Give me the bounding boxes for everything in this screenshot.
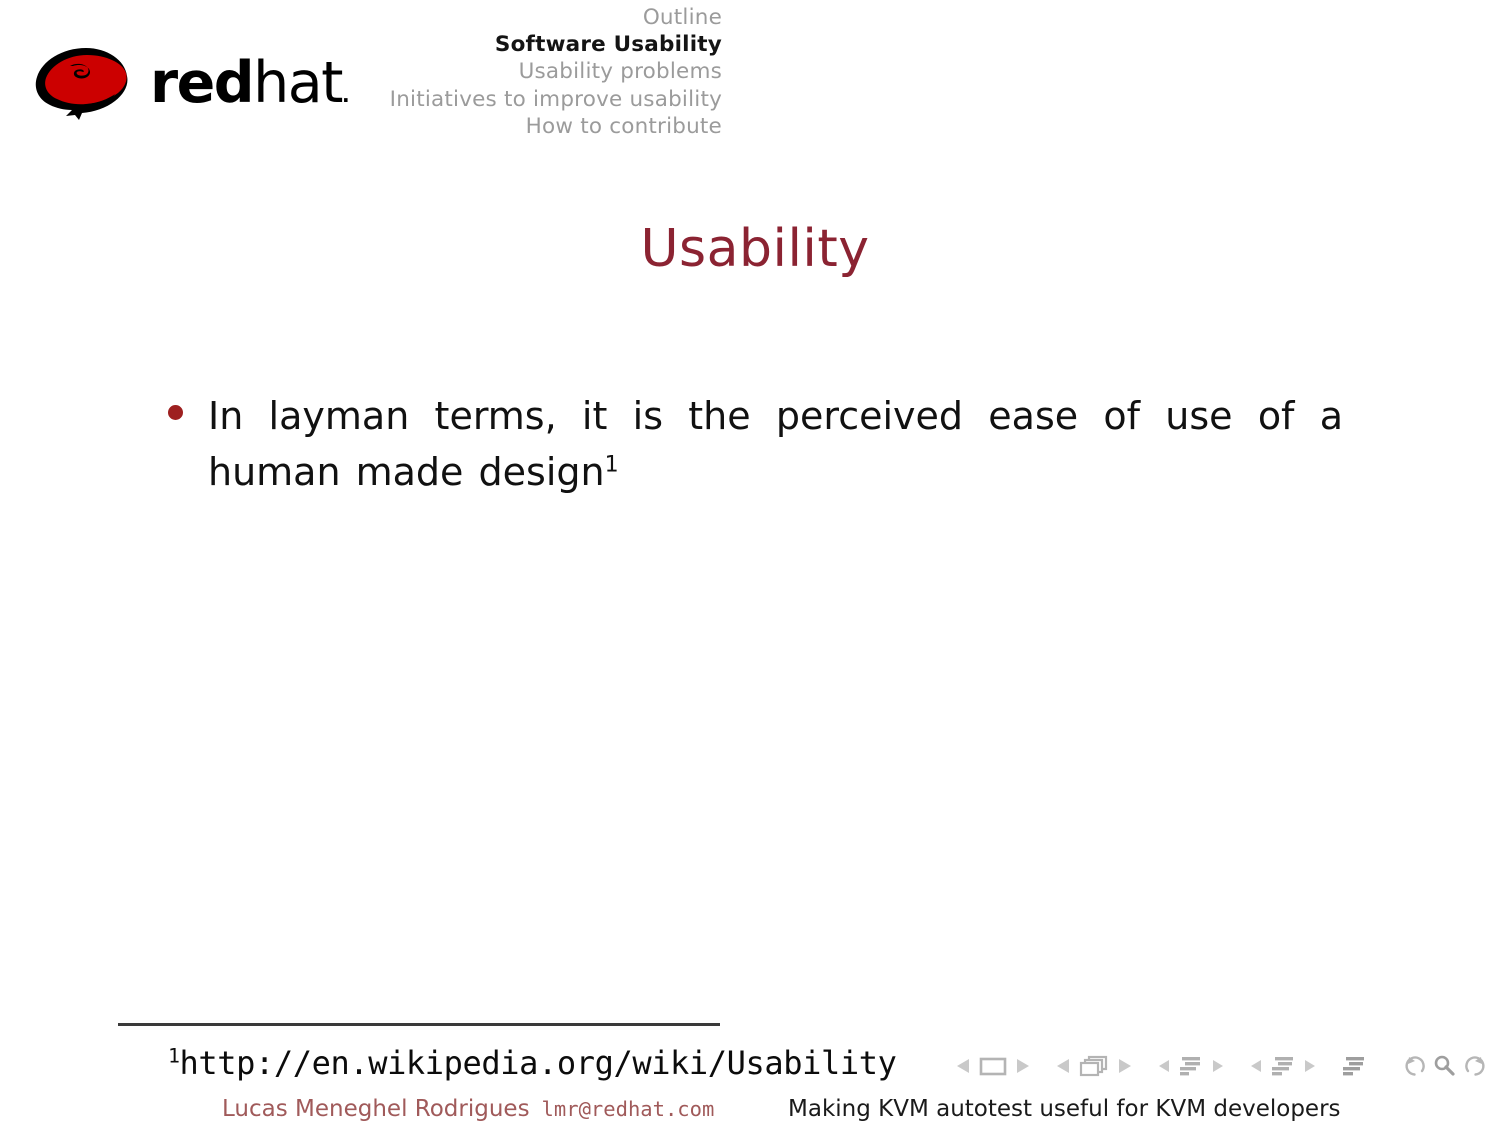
bullet-text-content: In layman terms, it is the perceived eas… — [208, 394, 1343, 494]
frame-navigation-group — [1052, 1054, 1136, 1078]
bullet-text: In layman terms, it is the perceived eas… — [208, 388, 1343, 500]
next-frame-icon[interactable] — [1116, 1056, 1133, 1076]
footnote-url[interactable]: http://en.wikipedia.org/wiki/Usability — [180, 1044, 897, 1082]
search-icon[interactable] — [1432, 1054, 1458, 1078]
list-item: In layman terms, it is the perceived eas… — [0, 388, 1510, 500]
section-navigation: Outline Software Usability Usability pro… — [0, 4, 722, 140]
footer-author-block: Lucas Meneghel Rodrigueslmr@redhat.com — [222, 1092, 714, 1126]
next-slide-icon[interactable] — [1014, 1056, 1031, 1076]
subsection-icon[interactable] — [1178, 1054, 1204, 1078]
slide-footer: Lucas Meneghel Rodrigueslmr@redhat.com M… — [0, 1092, 1510, 1133]
beamer-navigation-symbols — [952, 1048, 1412, 1084]
prev-slide-icon[interactable] — [955, 1056, 972, 1076]
back-icon[interactable] — [1402, 1054, 1428, 1078]
nav-item-outline[interactable]: Outline — [0, 4, 722, 31]
slide-navigation-group — [952, 1055, 1034, 1077]
presentation-icon[interactable] — [1341, 1054, 1367, 1078]
subsection-navigation-group — [1154, 1054, 1228, 1078]
nav-item-usability-problems[interactable]: Usability problems — [0, 58, 722, 85]
beamer-slide: redhat. Outline Software Usability Usabi… — [0, 0, 1510, 1133]
bullet-list: In layman terms, it is the perceived eas… — [0, 388, 1510, 500]
slide-icon[interactable] — [978, 1055, 1008, 1077]
prev-subsection-icon[interactable] — [1157, 1056, 1172, 1076]
footnote-marker[interactable]: 1 — [605, 452, 619, 477]
section-navigation-group — [1246, 1054, 1320, 1078]
next-section-icon[interactable] — [1302, 1056, 1317, 1076]
section-icon[interactable] — [1270, 1054, 1296, 1078]
footer-author: Lucas Meneghel Rodrigues — [222, 1096, 530, 1122]
footnote-number: 1 — [168, 1044, 180, 1067]
footer-presentation-title: Making KVM autotest useful for KVM devel… — [788, 1092, 1341, 1126]
presentation-navigation-group — [1338, 1054, 1370, 1078]
prev-frame-icon[interactable] — [1055, 1056, 1072, 1076]
bullet-dot-icon — [168, 405, 183, 420]
footnote-divider — [118, 1023, 720, 1026]
forward-icon[interactable] — [1462, 1054, 1488, 1078]
beamer-misc-symbols — [1400, 1048, 1500, 1084]
slide-header: redhat. Outline Software Usability Usabi… — [0, 0, 1510, 150]
footnote: 1http://en.wikipedia.org/wiki/Usability — [168, 1043, 896, 1083]
page-title: Usability — [0, 221, 1510, 278]
prev-section-icon[interactable] — [1249, 1056, 1264, 1076]
frames-icon[interactable] — [1078, 1054, 1110, 1078]
slide-body: In layman terms, it is the perceived eas… — [0, 388, 1510, 500]
nav-item-initiatives-to-improve-usability[interactable]: Initiatives to improve usability — [0, 86, 722, 113]
footer-email[interactable]: lmr@redhat.com — [542, 1097, 715, 1121]
nav-item-software-usability[interactable]: Software Usability — [0, 31, 722, 58]
next-subsection-icon[interactable] — [1210, 1056, 1225, 1076]
nav-item-how-to-contribute[interactable]: How to contribute — [0, 113, 722, 140]
